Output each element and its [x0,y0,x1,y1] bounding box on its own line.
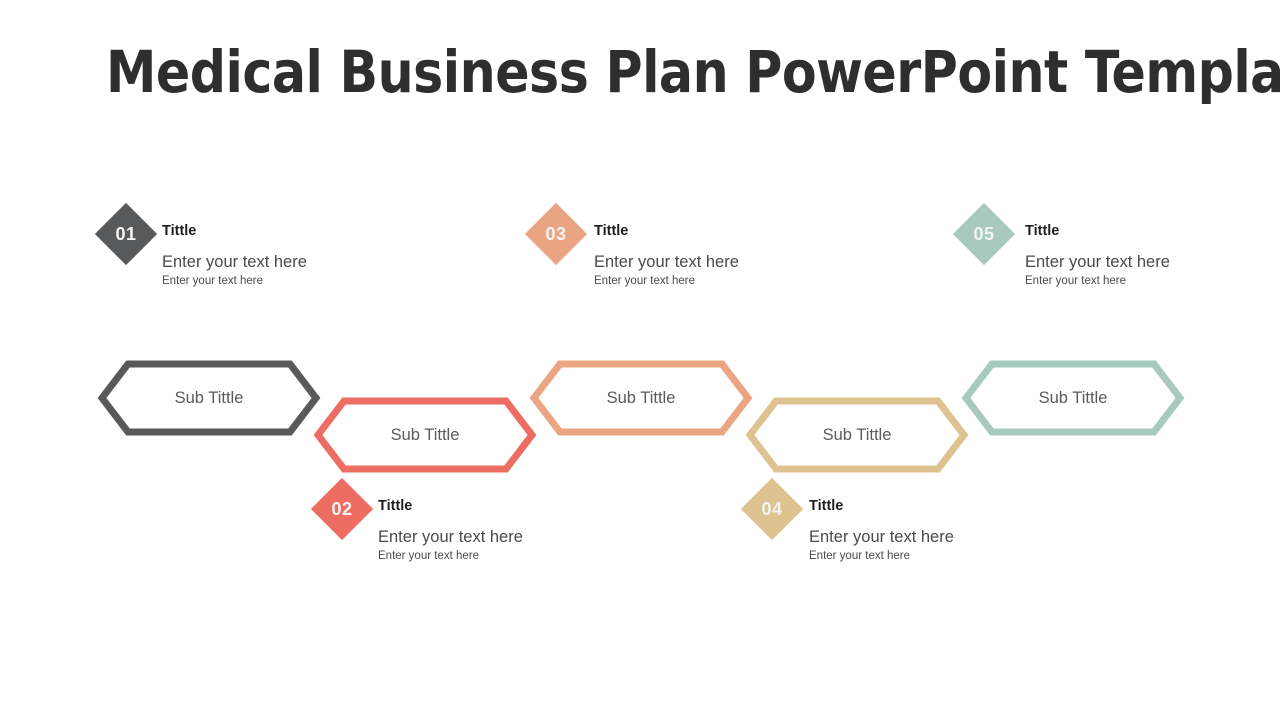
hexagon-step-4[interactable]: Sub Tittle [746,397,968,473]
step-title-4: Tittle [809,499,984,515]
hexagon-shape-4 [746,397,968,473]
step-text-block-2: Tittle Enter your text here Enter your t… [378,499,553,564]
hexagon-shape-5 [962,360,1184,436]
step-body-2: Enter your text here [378,527,553,547]
step-sub-4: Enter your text here [809,550,984,564]
slide-canvas: Medical Business Plan PowerPoint Templat… [0,0,1280,720]
hexagon-outline-3 [534,364,748,432]
step-title-1: Tittle [162,224,337,240]
diamond-number-4: 04 [741,478,803,540]
step-sub-5: Enter your text here [1025,275,1200,289]
hexagon-step-2[interactable]: Sub Tittle [314,397,536,473]
step-sub-3: Enter your text here [594,275,769,289]
hexagon-shape-3 [530,360,752,436]
diamond-number-2: 02 [311,478,373,540]
step-title-5: Tittle [1025,224,1200,240]
hexagon-outline-1 [102,364,316,432]
diamond-number-3: 03 [525,203,587,265]
step-sub-1: Enter your text here [162,275,337,289]
step-text-block-4: Tittle Enter your text here Enter your t… [809,499,984,564]
hexagon-shape-2 [314,397,536,473]
step-sub-2: Enter your text here [378,550,553,564]
hexagon-step-3[interactable]: Sub Tittle [530,360,752,436]
hexagon-outline-2 [318,401,532,469]
hexagon-step-1[interactable]: Sub Tittle [98,360,320,436]
step-body-4: Enter your text here [809,527,984,547]
hexagon-shape-1 [98,360,320,436]
hexagon-outline-4 [750,401,964,469]
page-title: Medical Business Plan PowerPoint Templat… [106,38,1154,106]
step-title-3: Tittle [594,224,769,240]
hexagon-step-5[interactable]: Sub Tittle [962,360,1184,436]
step-body-1: Enter your text here [162,252,337,272]
step-text-block-5: Tittle Enter your text here Enter your t… [1025,224,1200,289]
step-body-5: Enter your text here [1025,252,1200,272]
step-text-block-3: Tittle Enter your text here Enter your t… [594,224,769,289]
step-body-3: Enter your text here [594,252,769,272]
step-title-2: Tittle [378,499,553,515]
diamond-number-1: 01 [95,203,157,265]
hexagon-outline-5 [966,364,1180,432]
step-text-block-1: Tittle Enter your text here Enter your t… [162,224,337,289]
diamond-number-5: 05 [953,203,1015,265]
